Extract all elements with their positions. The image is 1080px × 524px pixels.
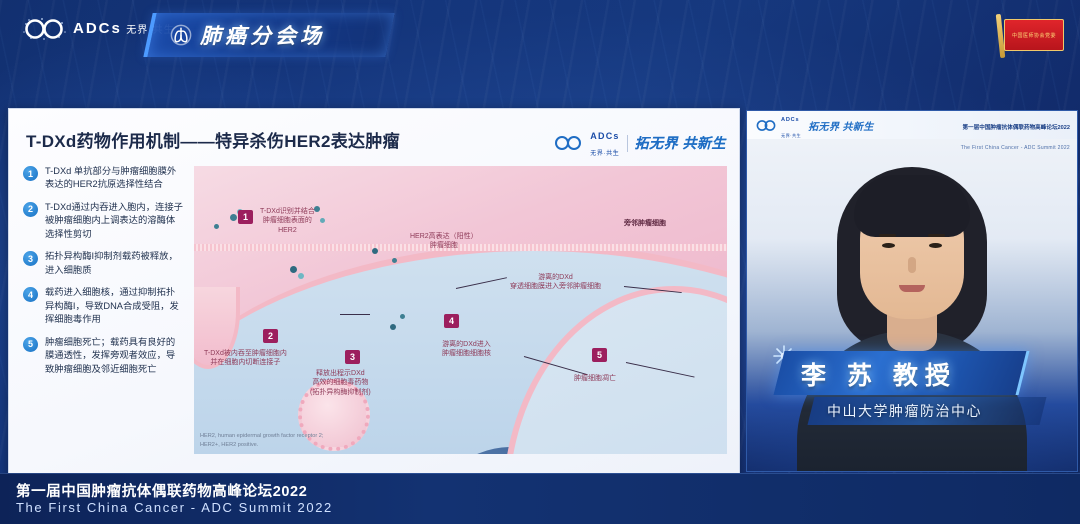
mechanism-step-list: 1 T-DXd 单抗部分与肿瘤细胞膜外表达的HER2抗原选择性结合 2 T-DX… [23,165,183,385]
video-brand-name: ADCs [781,117,799,123]
party-flag-badge: 中国医师协会党委 [992,12,1066,60]
list-item: 2 T-DXd通过内吞进入胞内，连接子被肿瘤细胞内上调表达的溶酶体选择性剪切 [23,201,183,241]
session-title: 肺癌分会场 [200,20,325,50]
slide-brand-name: ADCs [590,131,619,141]
infinity-logo-icon [22,16,66,42]
step-text: T-DXd通过内吞进入胞内，连接子被肿瘤细胞内上调表达的溶酶体选择性剪切 [45,201,183,241]
adc-particle [400,314,405,319]
flow-arrow [340,314,370,315]
adc-particle [298,273,304,279]
infinity-logo-icon [553,134,583,152]
nose-shape [908,257,916,273]
adc-particle [390,324,396,330]
session-chip[interactable]: 肺癌分会场 [143,13,394,57]
top-bar: ADCs 无界·共生 肺癌分会场 中国医师协会党委 [0,0,1080,72]
diagram-label-4: 游离的DXd进入肿瘤细胞细胞核 [442,340,491,359]
adc-particle [230,214,237,221]
list-item: 5 肿瘤细胞死亡；载药具有良好的膜通透性，发挥旁观者效应，导致肿瘤细胞及邻近细胞… [23,336,183,376]
eyebrow-right-shape [928,234,945,237]
adc-particle [290,266,297,273]
diagram-number-badge: 5 [592,348,607,362]
video-brand-sub: 无界·共生 [781,133,801,138]
step-text: 拓扑异构酶I抑制剂载药被释放，进入细胞质 [45,250,183,277]
video-event-title-en: The First China Cancer - ADC Summit 2022 [961,145,1070,151]
diagram-number-badge: 3 [345,350,360,364]
video-brand-logo: ADCs 无界·共生 [755,110,801,141]
speaker-video-panel[interactable]: ADCs 无界·共生 拓无界 共新生 第一届中国肿瘤抗体偶联药物高峰论坛2022… [746,110,1078,472]
slide-tagline: 拓无界 共新生 [635,133,726,153]
step-number: 4 [23,287,38,302]
list-item: 4 载药进入细胞核，通过抑制拓扑异构酶I，导致DNA合成受阻，发挥细胞毒作用 [23,286,183,326]
mechanism-diagram: 1 T-DXd识别并结合肿瘤细胞表面的HER2 HER2高表达（阳性）肿瘤细胞 … [194,166,727,454]
speaker-name-card: 李 苏 教授 中山大学肿瘤防治中心 [765,351,1059,429]
eyebrow-left-shape [879,234,896,237]
slide-brand-sub: 无界·共生 [590,151,619,157]
video-event-title-cn: 第一届中国肿瘤抗体偶联药物高峰论坛2022 [962,125,1070,131]
bottom-banner: 第一届中国肿瘤抗体偶联药物高峰论坛2022 The First China Ca… [0,473,1080,524]
video-tagline: 拓无界 共新生 [808,118,874,133]
diagram-label-1: T-DXd识别并结合肿瘤细胞表面的HER2 [260,207,315,235]
video-logo-text: ADCs 无界·共生 [781,110,801,141]
diagram-number-badge: 4 [444,314,459,328]
infinity-logo-icon [755,119,777,132]
event-title-cn: 第一届中国肿瘤抗体偶联药物高峰论坛2022 [16,480,307,501]
presentation-slide: T-DXd药物作用机制——特异杀伤HER2表达肿瘤 ADCs 无界·共生 拓无界… [8,108,740,477]
event-title-en: The First China Cancer - ADC Summit 2022 [16,500,333,515]
diagram-label-2: T-DXd被内吞至肿瘤细胞内并在细胞内切断连接子 [204,349,287,368]
flag-cloth-icon: 中国医师协会党委 [1004,19,1064,51]
speaker-name: 李 苏 教授 [801,356,1041,392]
step-number: 5 [23,337,38,352]
brand-name: ADCs [73,20,122,37]
video-event-title: 第一届中国肿瘤抗体偶联药物高峰论坛2022 The First China Ca… [961,115,1070,155]
diagram-number-badge: 2 [263,329,278,343]
flag-badge-text: 中国医师协会党委 [1012,32,1056,39]
step-text: T-DXd 单抗部分与肿瘤细胞膜外表达的HER2抗原选择性结合 [45,165,183,192]
step-text: 肿瘤细胞死亡；载药具有良好的膜通透性，发挥旁观者效应，导致肿瘤细胞及邻近细胞死亡 [45,336,183,376]
diagram-number-badge: 1 [238,210,253,224]
step-text: 载药进入细胞核，通过抑制拓扑异构酶I，导致DNA合成受阻，发挥细胞毒作用 [45,286,183,326]
logo-divider [627,135,628,152]
eye-left-shape [882,243,895,248]
speaker-affiliation: 中山大学肿瘤防治中心 [827,399,1057,423]
adc-particle [320,218,325,223]
adc-particle [214,224,219,229]
diagram-label-cell-name: HER2高表达（阳性）肿瘤细胞 [410,232,478,251]
step-number: 3 [23,251,38,266]
slide-title: T-DXd药物作用机制——特异杀伤HER2表达肿瘤 [26,127,400,152]
video-header-bar: ADCs 无界·共生 拓无界 共新生 第一届中国肿瘤抗体偶联药物高峰论坛2022… [747,111,1077,139]
list-item: 3 拓扑异构酶I抑制剂载药被释放，进入细胞质 [23,250,183,277]
step-number: 2 [23,202,38,217]
mouth-shape [899,285,925,292]
list-item: 1 T-DXd 单抗部分与肿瘤细胞膜外表达的HER2抗原选择性结合 [23,165,183,192]
eye-right-shape [929,243,942,248]
adc-particle [392,258,397,263]
diagram-label-bystander: 游离的DXd穿透细胞膜进入旁邻肿瘤细胞 [510,273,601,292]
slide-logo-text: ADCs 无界·共生 [590,127,619,159]
step-number: 1 [23,166,38,181]
diagram-label-3: 释放出程示DXd高效的细胞毒药物(拓扑异构酶抑制剂) [310,369,371,397]
lung-icon [170,24,192,46]
diagram-footnote: HER2, human epidermal growth factor rece… [200,432,323,449]
slide-brand-logo: ADCs 无界·共生 拓无界 共新生 [553,127,726,159]
hair-front-shape [854,175,970,237]
diagram-label-neighbor: 旁邻肿瘤细胞 [624,219,666,228]
adc-particle [372,248,378,254]
diagram-label-5: 肿瘤细胞凋亡 [574,374,616,383]
